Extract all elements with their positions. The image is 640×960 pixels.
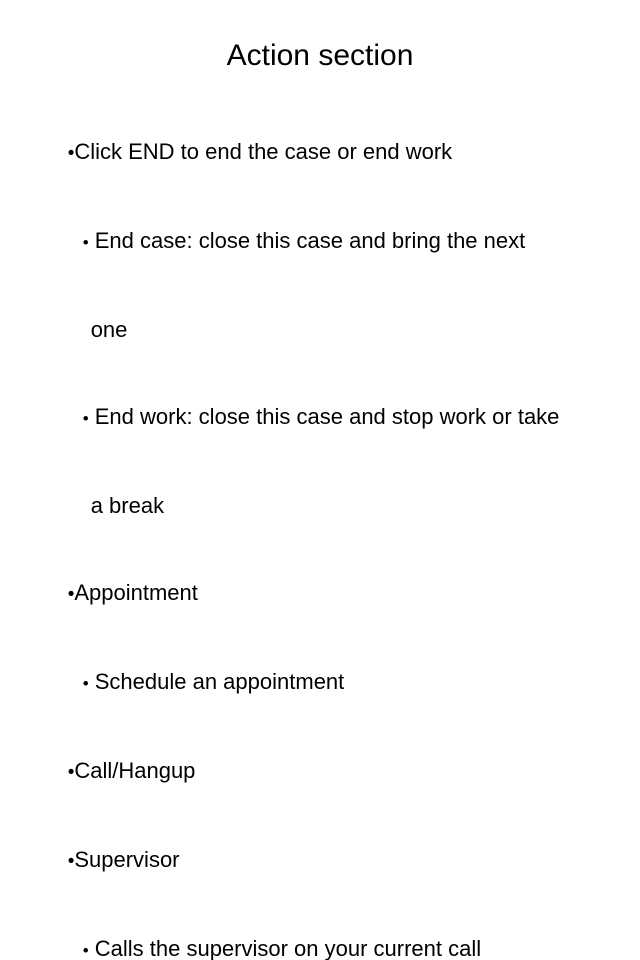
list-item: • End case: close this case and bring th… xyxy=(28,197,624,286)
list-item-label: End case: close this case and bring the … xyxy=(89,228,526,253)
list-item-label: Click END to end the case or end work xyxy=(74,139,452,164)
slide: Action section •Click END to end the cas… xyxy=(0,0,640,480)
bullet-icon: • xyxy=(68,584,75,605)
list-item: •Supervisor xyxy=(28,816,624,905)
list-item-label: Schedule an appointment xyxy=(89,669,345,694)
bullet-icon: • xyxy=(68,851,75,872)
list-item-label: one xyxy=(91,317,128,342)
list-item-label: Calls the supervisor on your current cal… xyxy=(89,936,482,960)
bullet-icon: • xyxy=(68,762,75,783)
list-item-label: Supervisor xyxy=(74,847,179,872)
list-item-label: End work: close this case and stop work … xyxy=(89,404,560,429)
bullet-list: •Click END to end the case or end work •… xyxy=(28,108,624,960)
list-item-continuation: a break xyxy=(28,462,624,549)
list-item-label: Appointment xyxy=(74,580,198,605)
list-item: • End work: close this case and stop wor… xyxy=(28,373,624,462)
list-item-continuation: one xyxy=(28,286,624,373)
list-item: •Appointment xyxy=(28,549,624,638)
list-item-label: a break xyxy=(91,493,164,518)
list-item-label: Call/Hangup xyxy=(74,758,195,783)
list-item: • Calls the supervisor on your current c… xyxy=(28,905,624,960)
page-title: Action section xyxy=(0,38,640,74)
list-item: • Schedule an appointment xyxy=(28,638,624,727)
list-item: •Click END to end the case or end work xyxy=(28,108,624,197)
list-item: •Call/Hangup xyxy=(28,727,624,816)
